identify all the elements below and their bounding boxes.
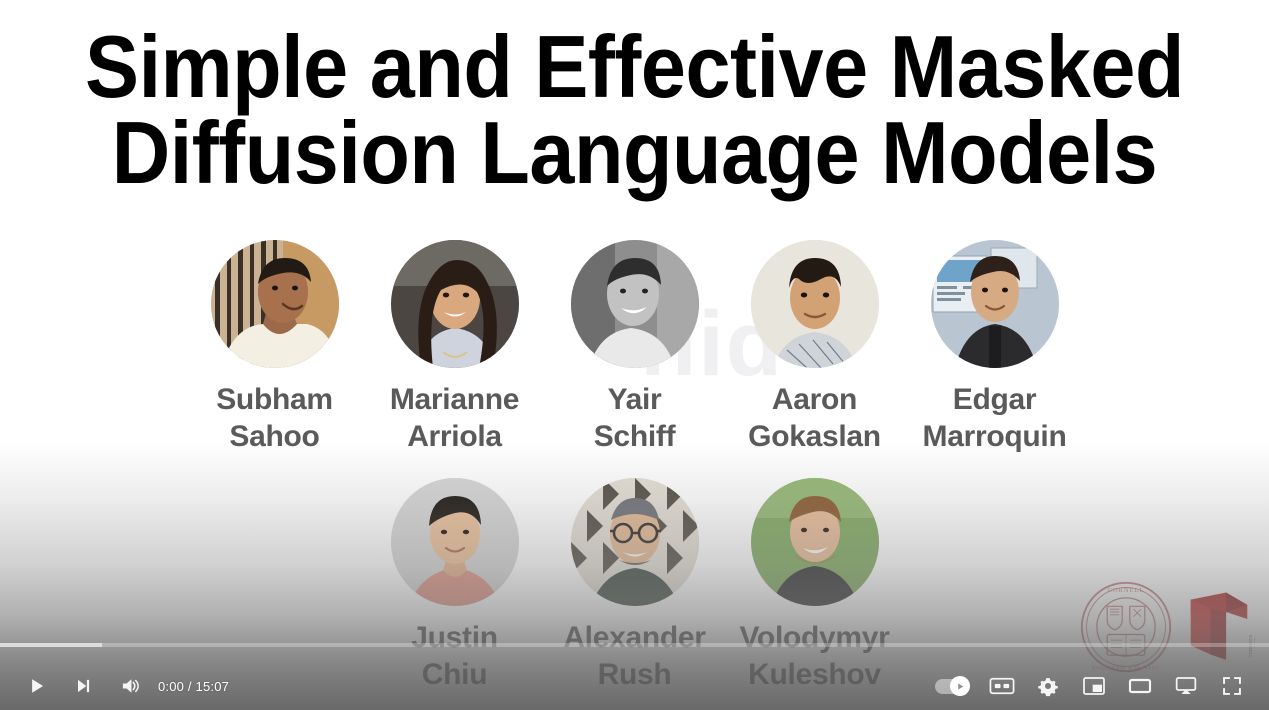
avatar-marianne-arriola: [391, 240, 519, 368]
settings-button[interactable]: [1025, 662, 1071, 710]
avatar-justin-chiu: [391, 478, 519, 606]
autoplay-toggle[interactable]: [925, 662, 979, 710]
author-name: Marianne Arriola: [390, 382, 519, 455]
fullscreen-button[interactable]: [1209, 662, 1255, 710]
author-marianne-arriola: Marianne Arriola: [389, 240, 521, 455]
player-controls[interactable]: 0:00 / 15:07: [0, 652, 1269, 710]
avatar-volodymyr-kuleshov: [751, 478, 879, 606]
author-aaron-gokaslan: Aaron Gokaslan: [749, 240, 881, 455]
next-button[interactable]: [60, 662, 106, 710]
progress-bar[interactable]: [0, 643, 1269, 647]
author-name: Subham Sahoo: [216, 382, 333, 455]
autoplay-track: [935, 679, 969, 694]
author-subham-sahoo: Subham Sahoo: [209, 240, 341, 455]
author-row-first: Subham Sahoo Mariann: [0, 240, 1269, 455]
progress-loaded: [0, 643, 102, 647]
play-button[interactable]: [14, 662, 60, 710]
left-controls: 0:00 / 15:07: [14, 662, 239, 710]
cast-button[interactable]: [1163, 662, 1209, 710]
author-yair-schiff: Yair Schiff: [569, 240, 701, 455]
video-player[interactable]: nid Simple and Effective Masked Diffusio…: [0, 0, 1269, 710]
svg-text:CORNELL: CORNELL: [1108, 587, 1145, 594]
author-name: Aaron Gokaslan: [748, 382, 881, 455]
avatar-yair-schiff: [571, 240, 699, 368]
controls-bar: 0:00 / 15:07: [0, 662, 1269, 710]
right-controls: [925, 662, 1255, 710]
avatar-subham-sahoo: [211, 240, 339, 368]
slide-title: Simple and Effective Masked Diffusion La…: [51, 24, 1218, 196]
theater-mode-button[interactable]: [1117, 662, 1163, 710]
volume-button[interactable]: [106, 662, 152, 710]
time-display: 0:00 / 15:07: [152, 679, 239, 694]
author-name: Edgar Marroquin: [923, 382, 1067, 455]
avatar-edgar-marroquin: [931, 240, 1059, 368]
miniplayer-button[interactable]: [1071, 662, 1117, 710]
author-name: Yair Schiff: [594, 382, 676, 455]
avatar-alexander-rush: [571, 478, 699, 606]
avatar-aaron-gokaslan: [751, 240, 879, 368]
autoplay-knob: [950, 676, 970, 696]
subtitles-button[interactable]: [979, 662, 1025, 710]
video-frame: nid Simple and Effective Masked Diffusio…: [0, 0, 1269, 710]
author-edgar-marroquin: Edgar Marroquin: [929, 240, 1061, 455]
